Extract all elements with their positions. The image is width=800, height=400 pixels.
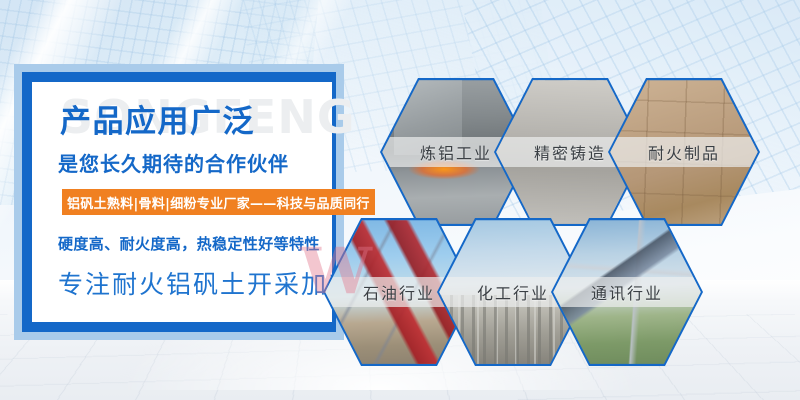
hex-tile-refractory-products[interactable]: 耐火制品 [608,78,760,226]
hex-label-refractory-products: 耐火制品 [610,137,758,167]
promotional-banner: SONGFENG 产品应用广泛 是您长久期待的合作伙伴 铝矾土熟料|骨料|细粉专… [0,0,800,400]
hex-label-communications-industry: 通讯行业 [553,277,701,307]
hex-clip: 耐火制品 [610,80,758,224]
hexagon-gallery: 炼铝工业 精密铸造 耐火制品 石油行业 化工行业 [0,0,800,400]
hex-tile-communications-industry[interactable]: 通讯行业 [551,218,703,366]
hex-clip: 通讯行业 [553,220,701,364]
